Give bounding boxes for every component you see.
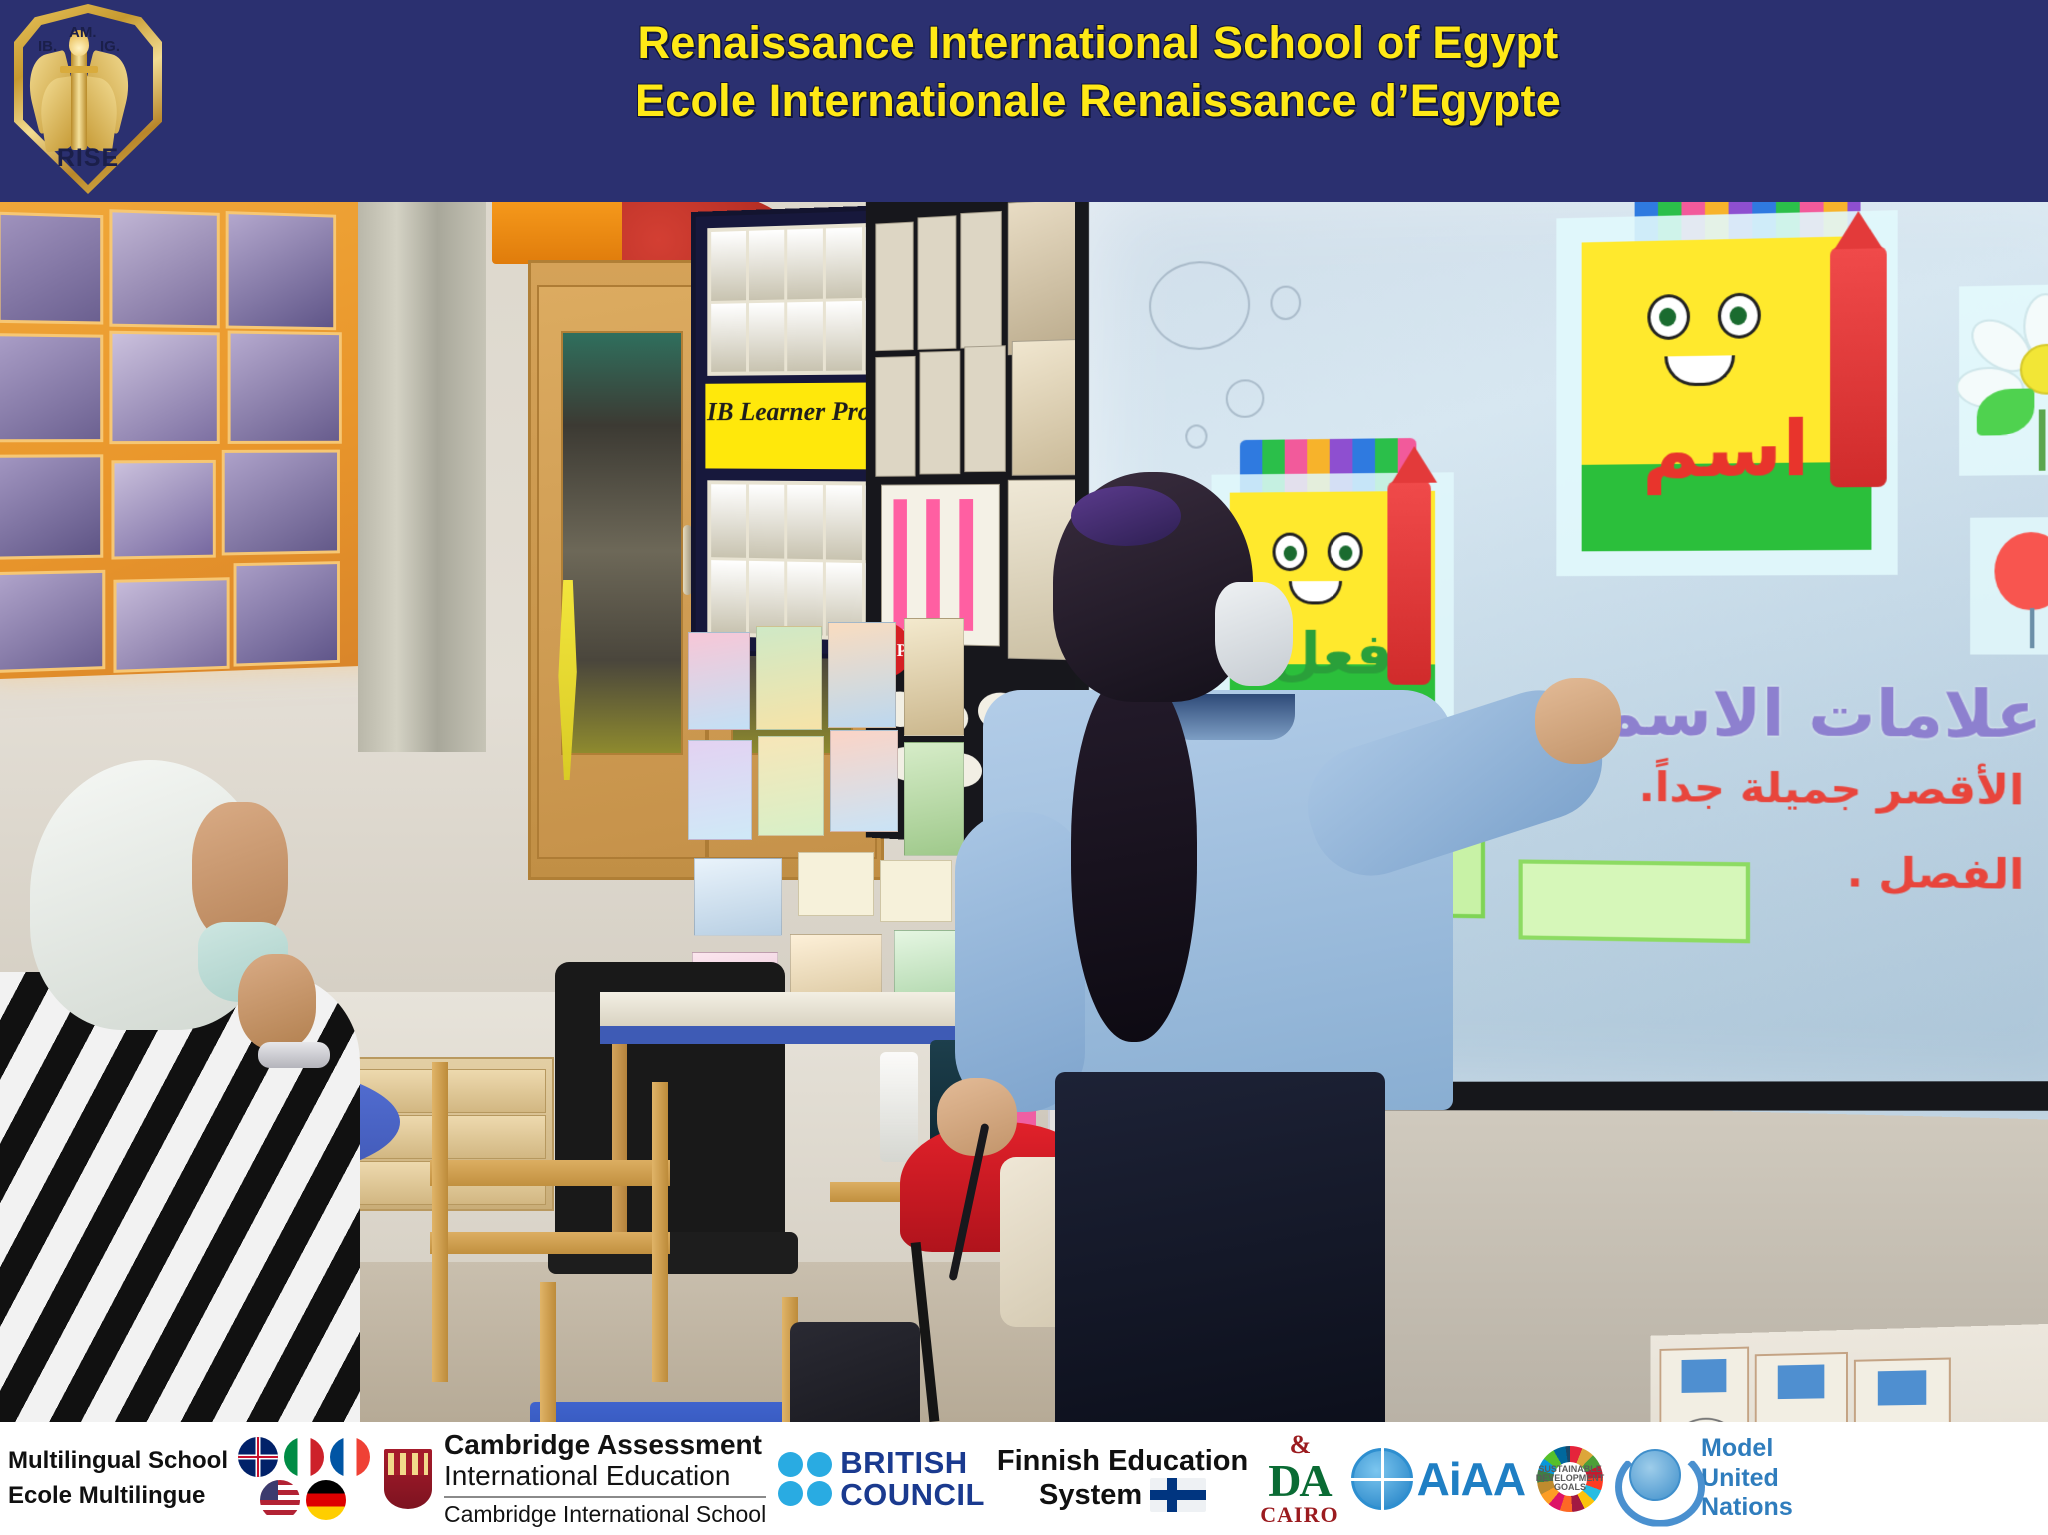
cambridge-line-1: Cambridge Assessment — [444, 1429, 766, 1460]
blue-stool-seat — [530, 1402, 800, 1422]
slide-line-2-arabic: الفصل . — [1847, 849, 2025, 900]
finnish-line-2: System — [1039, 1479, 1142, 1512]
dai-ampersand: & — [1290, 1432, 1310, 1458]
wooden-chair-post-right — [652, 1082, 668, 1382]
clear-water-bottle — [880, 1052, 918, 1162]
germany-flag-icon — [306, 1480, 346, 1520]
slide-flower-image — [1959, 283, 2048, 476]
united-states-flag-icon — [260, 1480, 300, 1520]
sdg-block: SUSTAINABLE DEVELOPMENT GOALS — [1537, 1446, 1603, 1512]
student-hair-accessory — [1071, 486, 1181, 546]
crest-ib-label: IB. — [38, 38, 57, 55]
crayon-box-noun: اسم — [1582, 236, 1872, 551]
france-flag-icon — [330, 1437, 370, 1477]
crest-rise-label: RISE — [14, 144, 162, 173]
dai-city-label: CAIRO — [1260, 1504, 1338, 1526]
photo-collage-board — [0, 202, 387, 679]
desk-leg-left — [612, 1044, 627, 1244]
british-council-block: BRITISH COUNCIL — [778, 1447, 985, 1510]
slide-heading-arabic: علامات الاسم — [1595, 675, 2042, 753]
student-uniform-skirt — [1055, 1072, 1385, 1422]
teacher-hand — [238, 954, 316, 1050]
finnish-line-1: Finnish Education — [997, 1445, 1248, 1478]
cambridge-divider — [444, 1496, 766, 1498]
classroom-photograph: IB Learner Profile STOP — [0, 202, 2048, 1422]
mun-line-1: Model — [1701, 1434, 1793, 1464]
united-nations-emblem-icon — [1615, 1443, 1691, 1515]
crest-am-label: AM. — [69, 24, 97, 41]
cambridge-block: Cambridge Assessment International Educa… — [382, 1429, 766, 1528]
lower-wall-poster-strip — [1650, 1324, 2048, 1422]
aiaa-label: AiAA — [1417, 1452, 1525, 1506]
cambridge-line-3: Cambridge International School — [444, 1502, 766, 1528]
header-title-group: Renaissance International School of Egyp… — [168, 14, 2028, 129]
accreditation-footer: Multilingual School Ecole Multilingue Ca… — [0, 1422, 2048, 1535]
multilingual-school-label: Multilingual School — [8, 1444, 228, 1479]
ecole-multilingue-label: Ecole Multilingue — [8, 1479, 228, 1514]
crest-ig-label: IG. — [100, 38, 120, 55]
school-title-english: Renaissance International School of Egyp… — [168, 14, 2028, 72]
cambridge-shield-icon — [382, 1447, 434, 1511]
british-council-line-1: BRITISH — [840, 1447, 985, 1479]
student-left-arm — [955, 812, 1085, 1112]
british-council-dots-icon — [778, 1452, 832, 1506]
mun-line-2: United — [1701, 1464, 1793, 1494]
teacher-patterned-coat — [0, 972, 360, 1422]
student-at-whiteboard — [975, 472, 1595, 1422]
student-right-hand-pointing — [1535, 678, 1621, 764]
aiaa-globe-icon — [1351, 1448, 1413, 1510]
student-face-mask — [1215, 582, 1293, 686]
british-council-line-2: COUNCIL — [840, 1479, 985, 1511]
language-flags-group — [238, 1437, 370, 1520]
multilingual-block: Multilingual School Ecole Multilingue — [8, 1437, 370, 1520]
slide-balloon-image — [1970, 517, 2048, 655]
page-header: IB. AM. IG. RISE Renaissance Internation… — [0, 0, 2048, 202]
sdg-label: SUSTAINABLE DEVELOPMENT GOALS — [1537, 1446, 1603, 1512]
sdg-color-wheel-icon: SUSTAINABLE DEVELOPMENT GOALS — [1537, 1446, 1603, 1512]
orange-storage-bin — [492, 202, 622, 264]
wooden-chair-mid-rail — [430, 1232, 670, 1254]
school-title-french: Ecole Internationale Renaissance d’Egypt… — [168, 72, 2028, 130]
italy-flag-icon — [284, 1437, 324, 1477]
dai-cairo-block: & DA CAIRO — [1260, 1432, 1338, 1526]
dai-letters: DA — [1268, 1458, 1330, 1504]
aiaa-block: AiAA — [1351, 1448, 1525, 1510]
black-bag — [790, 1322, 920, 1422]
slide-word-noun: اسم — [1582, 403, 1872, 495]
window-curtain — [358, 202, 486, 752]
teacher-wristwatch — [258, 1042, 330, 1068]
student-ponytail — [1071, 672, 1197, 1042]
wooden-chair-top-rail — [430, 1160, 670, 1186]
school-photo-banner: IB. AM. IG. RISE Renaissance Internation… — [0, 0, 2048, 1535]
finland-flag-icon — [1150, 1478, 1206, 1512]
mun-line-3: Nations — [1701, 1493, 1793, 1523]
seated-teacher — [0, 742, 440, 1422]
slide-line-1-arabic: الأقصر جميلة جداً. — [1639, 764, 2025, 815]
school-crest-icon: IB. AM. IG. RISE — [14, 4, 162, 194]
finnish-education-block: Finnish Education System — [997, 1445, 1248, 1512]
cambridge-line-2: International Education — [444, 1460, 766, 1491]
united-kingdom-flag-icon — [238, 1437, 278, 1477]
model-united-nations-block: Model United Nations — [1615, 1434, 1793, 1523]
teacher-face — [192, 802, 288, 942]
blue-stool-post-left — [540, 1282, 556, 1422]
